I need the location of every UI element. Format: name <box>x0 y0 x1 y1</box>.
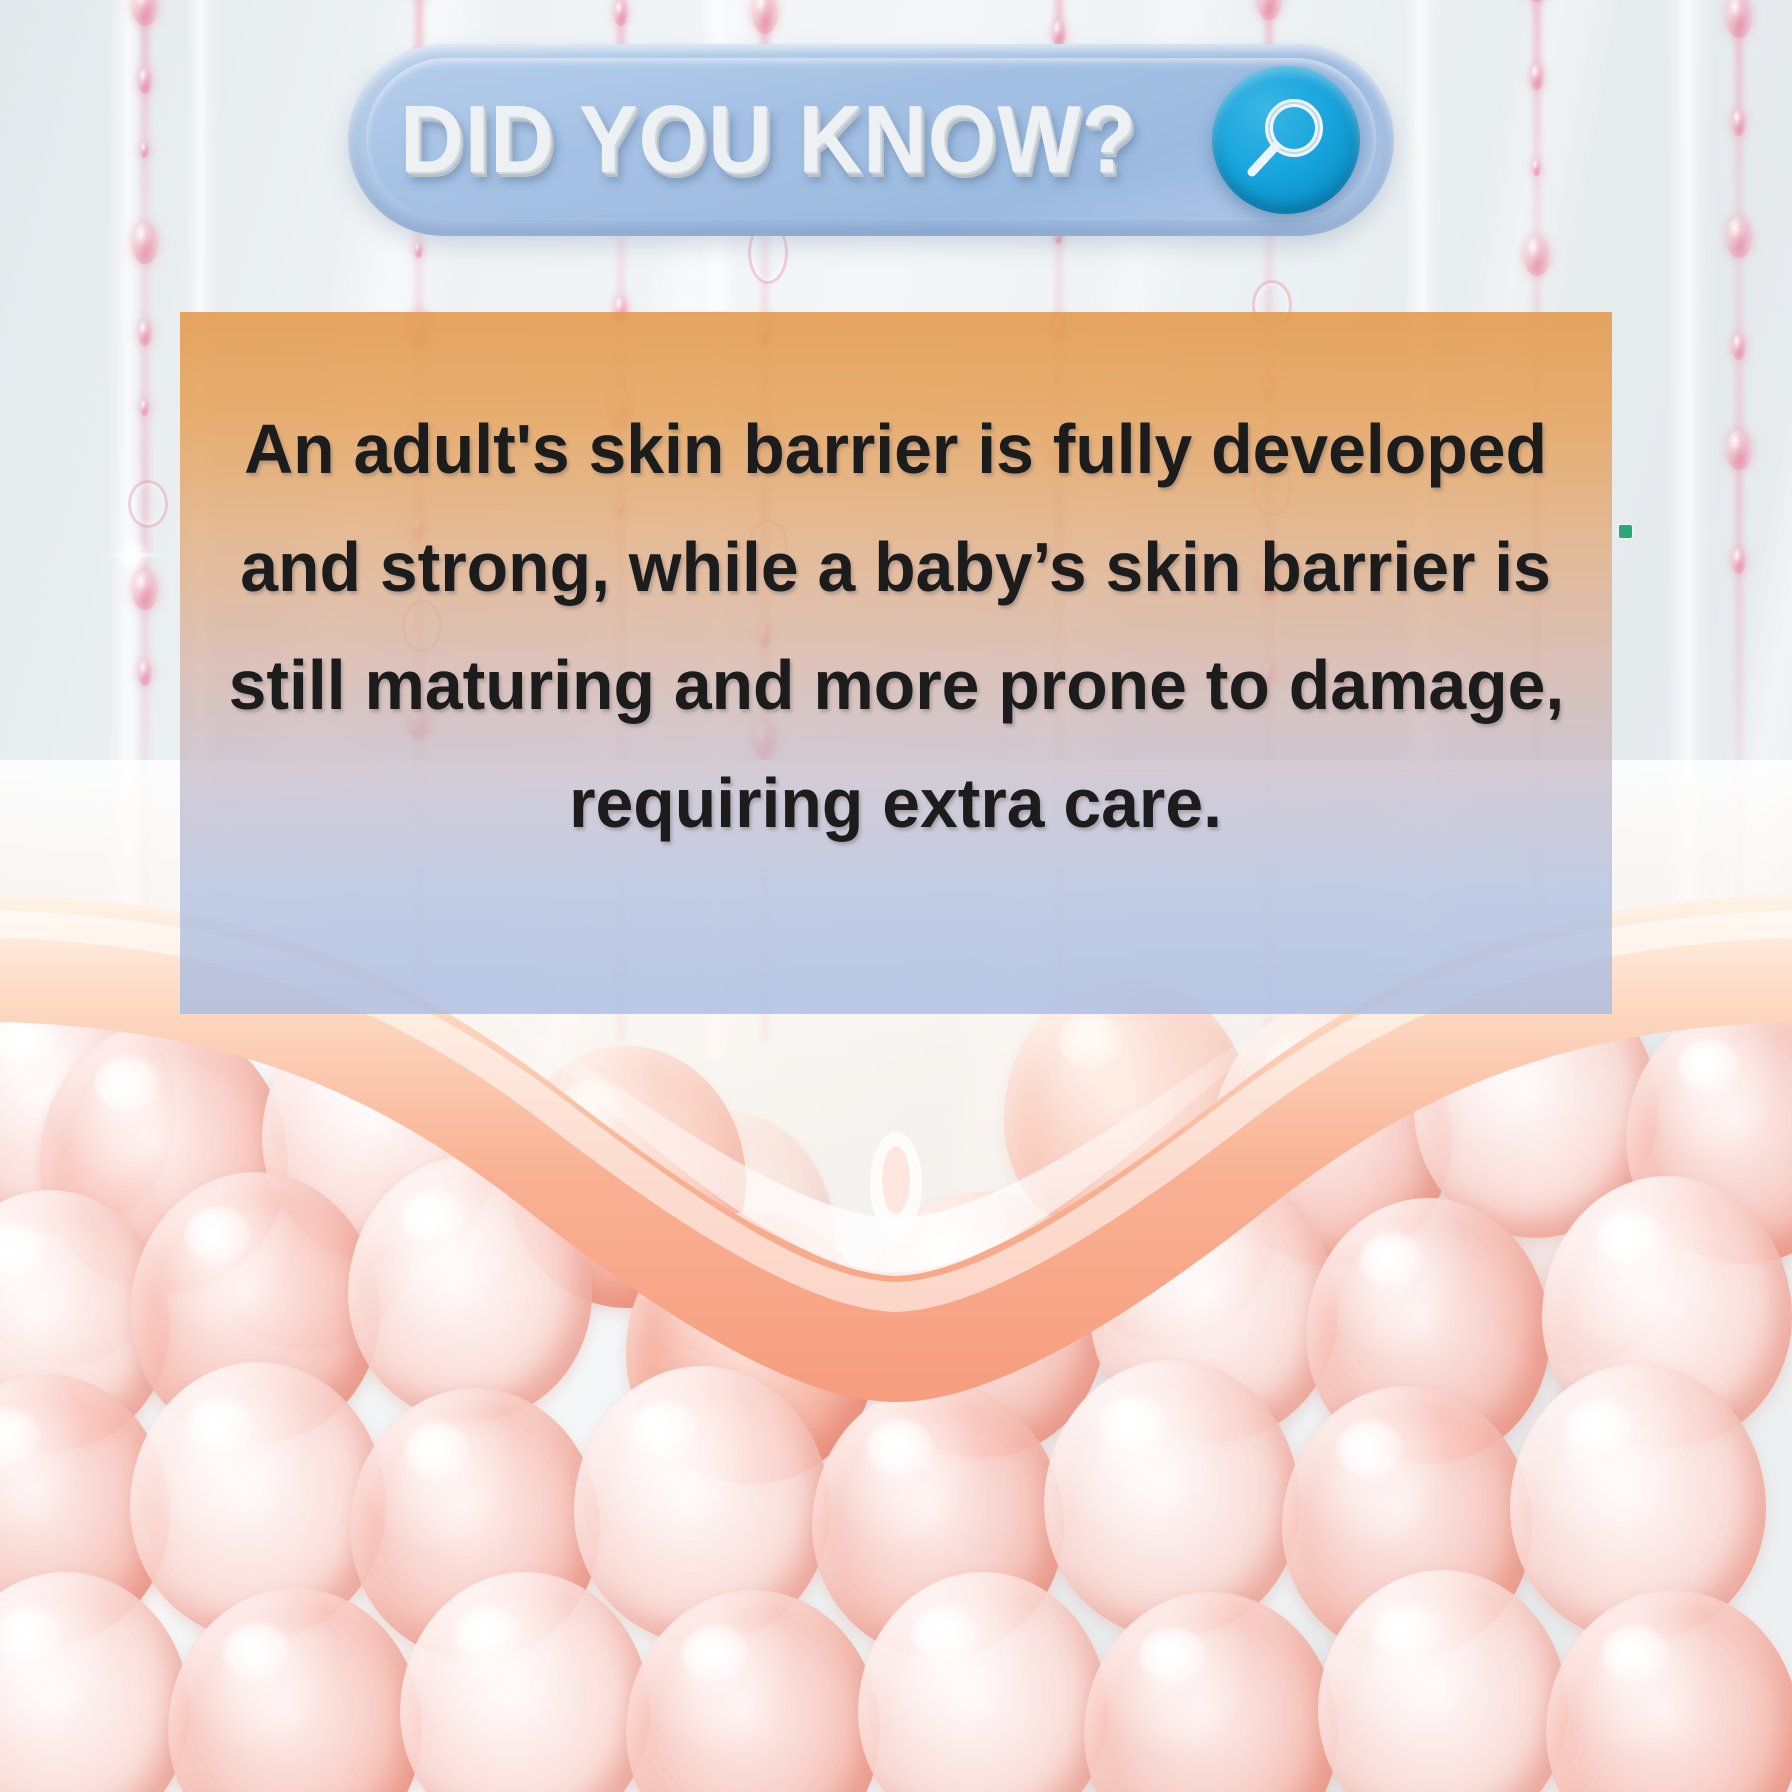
fact-line: An adult's skin barrier is fully develop… <box>245 390 1548 508</box>
magnifier-icon <box>1234 88 1338 192</box>
fact-line: and strong, while a baby’s skin barrier … <box>241 508 1552 626</box>
green-marker-dot <box>1619 525 1632 538</box>
search-badge[interactable] <box>1212 66 1360 214</box>
banner-title: DID YOU KNOW? <box>400 85 1137 195</box>
fact-line: requiring extra care. <box>570 744 1223 862</box>
did-you-know-banner[interactable]: DID YOU KNOW? <box>348 44 1394 236</box>
fact-card: An adult's skin barrier is fully develop… <box>180 312 1612 1014</box>
infographic-canvas: DID YOU KNOW? <box>0 0 1792 1792</box>
fact-line: still maturing and more prone to damage, <box>228 626 1564 744</box>
